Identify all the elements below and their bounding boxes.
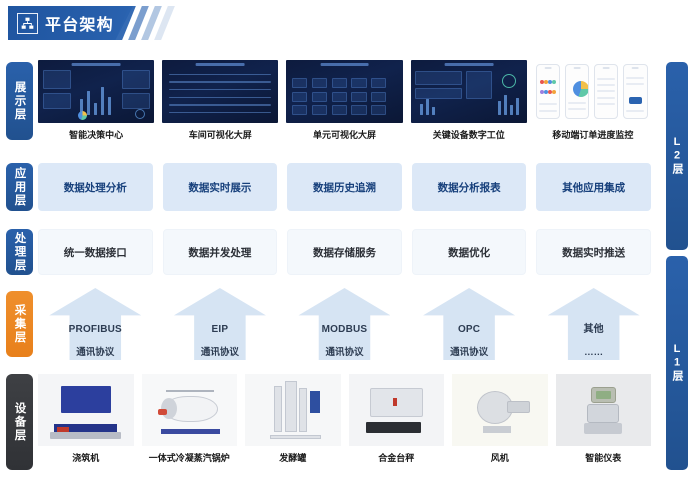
processing-card[interactable]: 数据优化 [412,229,527,275]
application-layer-row: 数据处理分析 数据实时展示 数据历史追溯 数据分析报表 其他应用集成 [38,163,651,211]
device-item-caption: 一体式冷凝蒸汽锅炉 [149,451,230,464]
application-card[interactable]: 其他应用集成 [536,163,651,211]
layer-tab-collection[interactable]: 采集层 [6,291,33,357]
protocol-arrow[interactable]: PROFIBUS 通讯协议 [38,288,153,360]
device-item-caption: 风机 [491,451,509,464]
display-item-caption: 单元可视化大屏 [313,128,376,141]
processing-layer-row: 统一数据接口 数据并发处理 数据存储服务 数据优化 数据实时推送 [38,229,651,275]
device-item[interactable]: 发酵罐 [245,374,341,470]
protocol-sub: 通讯协议 [76,347,114,358]
display-item-caption: 关键设备数字工位 [433,128,505,141]
processing-card[interactable]: 统一数据接口 [38,229,153,275]
device-item-caption: 浇筑机 [72,451,99,464]
display-item-caption: 智能决策中心 [69,128,123,141]
fermentation-tank-photo[interactable] [245,374,341,446]
layer-tab-display[interactable]: 展示层 [6,62,33,140]
processing-card[interactable]: 数据存储服务 [287,229,402,275]
processing-card[interactable]: 数据实时推送 [536,229,651,275]
dashboard-equipment-station-thumbnail[interactable] [411,60,527,123]
display-item[interactable]: 智能决策中心 [38,60,154,142]
device-item[interactable]: 浇筑机 [38,374,134,470]
page-title: 平台架构 [45,11,114,35]
layer-tab-device[interactable]: 设备层 [6,374,33,470]
display-item[interactable]: 关键设备数字工位 [411,60,527,142]
protocol-sub: 通讯协议 [450,347,488,358]
protocol-name: OPC [458,324,480,335]
application-card[interactable]: 数据实时展示 [163,163,278,211]
smart-instrument-photo[interactable] [556,374,652,446]
display-layer-row: 智能决策中心 车间可视化大屏 [38,60,651,142]
layer-tab-application[interactable]: 应用层 [6,163,33,211]
protocol-name: MODBUS [322,324,368,335]
dashboard-workshop-table-thumbnail[interactable] [162,60,278,123]
protocol-name: 其他 [583,324,603,335]
display-item[interactable]: 单元可视化大屏 [286,60,402,142]
level-bar-l2[interactable]: L2层 [666,62,688,250]
device-item-caption: 智能仪表 [585,451,621,464]
device-item-caption: 合金台秤 [378,451,414,464]
steam-boiler-photo[interactable] [142,374,238,446]
dashboard-unit-table-thumbnail[interactable] [286,60,402,123]
device-item[interactable]: 智能仪表 [556,374,652,470]
page-header: 平台架构 [0,0,695,52]
processing-card[interactable]: 数据并发处理 [163,229,278,275]
protocol-arrow[interactable]: OPC 通讯协议 [412,288,527,360]
protocol-arrow[interactable]: 其他 …… [536,288,651,360]
protocol-name: EIP [212,324,229,335]
protocol-arrow[interactable]: EIP 通讯协议 [163,288,278,360]
device-item[interactable]: 一体式冷凝蒸汽锅炉 [142,374,238,470]
level-bar-l1[interactable]: L1层 [666,256,688,470]
device-item-caption: 发酵罐 [279,451,306,464]
header-banner: 平台架构 [8,6,133,40]
protocol-sub: …… [584,347,603,358]
casting-machine-photo[interactable] [38,374,134,446]
display-item-caption: 移动端订单进度监控 [552,128,633,141]
protocol-sub: 通讯协议 [325,347,363,358]
collection-layer-row: PROFIBUS 通讯协议 EIP 通讯协议 MODBUS 通讯协议 OPC 通… [38,288,651,360]
application-card[interactable]: 数据历史追溯 [287,163,402,211]
display-item-caption: 车间可视化大屏 [189,128,252,141]
device-layer-row: 浇筑机 一体式冷凝蒸汽锅炉 发酵罐 合金台秤 [38,374,651,470]
protocol-sub: 通讯协议 [201,347,239,358]
display-item[interactable]: 移动端订单进度监控 [535,60,651,142]
alloy-platform-scale-photo[interactable] [349,374,445,446]
hierarchy-icon [17,13,38,34]
protocol-name: PROFIBUS [69,324,122,335]
device-item[interactable]: 风机 [452,374,548,470]
display-item[interactable]: 车间可视化大屏 [162,60,278,142]
device-item[interactable]: 合金台秤 [349,374,445,470]
banner-stripes-decoration [118,6,188,40]
application-card[interactable]: 数据处理分析 [38,163,153,211]
blower-fan-photo[interactable] [452,374,548,446]
application-card[interactable]: 数据分析报表 [412,163,527,211]
protocol-arrow[interactable]: MODBUS 通讯协议 [287,288,402,360]
layer-tab-processing[interactable]: 处理层 [6,229,33,275]
mobile-phone-mockups-thumbnail[interactable] [535,60,651,123]
dashboard-decision-center-thumbnail[interactable] [38,60,154,123]
platform-architecture-diagram: 平台架构 展示层 应用层 处理层 采集层 设备层 L2层 L1层 [0,0,695,478]
